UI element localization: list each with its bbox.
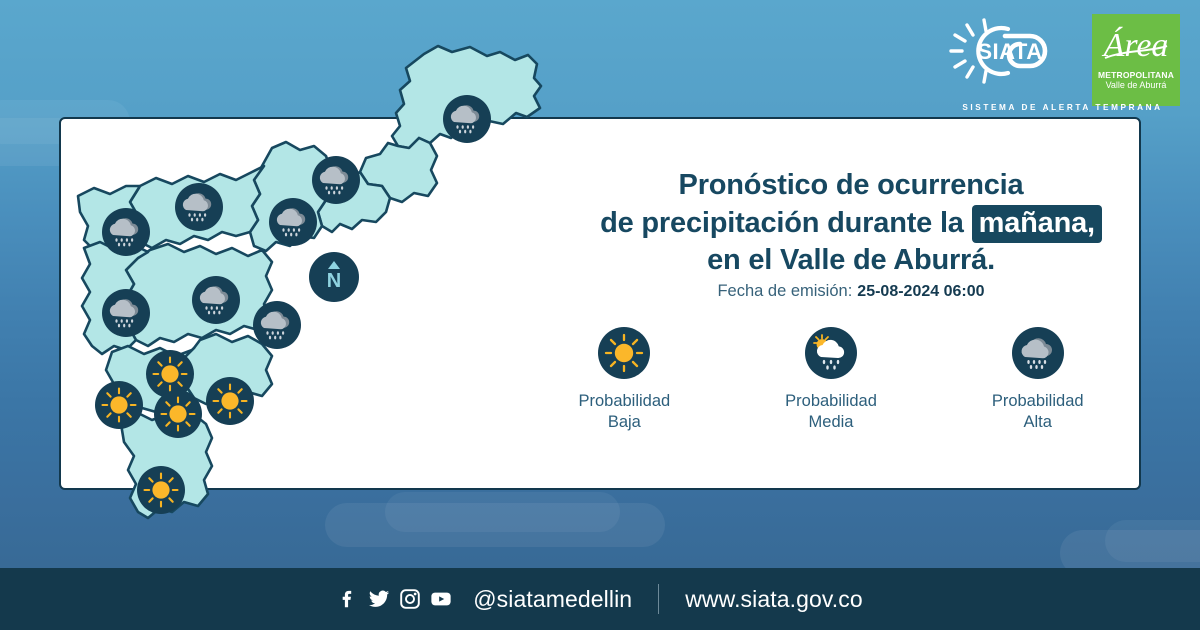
cloud-rain-icon xyxy=(102,289,150,337)
cloud-rain-icon xyxy=(175,183,223,231)
sun-icon xyxy=(95,381,143,429)
cloud-rain-icon xyxy=(443,95,491,143)
twitter-icon[interactable] xyxy=(368,588,390,610)
footer-bar: @siatamedellin www.siata.gov.co xyxy=(0,568,1200,630)
compass-rose: N xyxy=(309,252,359,302)
cloud-rain-icon xyxy=(102,208,150,256)
cloud-rain-icon xyxy=(253,301,301,349)
website-url[interactable]: www.siata.gov.co xyxy=(685,586,863,613)
cloud-rain-icon xyxy=(192,276,240,324)
sun-icon xyxy=(206,377,254,425)
social-handle[interactable]: @siatamedellin xyxy=(473,586,632,613)
youtube-icon[interactable] xyxy=(430,588,452,610)
cloud-rain-icon xyxy=(312,156,360,204)
cloud-rain-icon xyxy=(269,198,317,246)
infographic-canvas: SIATA Área METROPOLITANA Valle de Aburrá… xyxy=(0,0,1200,630)
valle-de-aburra-map: N xyxy=(0,0,1200,630)
svg-text:N: N xyxy=(327,270,341,292)
sun-icon xyxy=(154,390,202,438)
footer-divider xyxy=(658,584,659,614)
sun-icon xyxy=(146,350,194,398)
sun-icon xyxy=(137,466,185,514)
facebook-icon[interactable] xyxy=(337,588,359,610)
instagram-icon[interactable] xyxy=(399,588,421,610)
